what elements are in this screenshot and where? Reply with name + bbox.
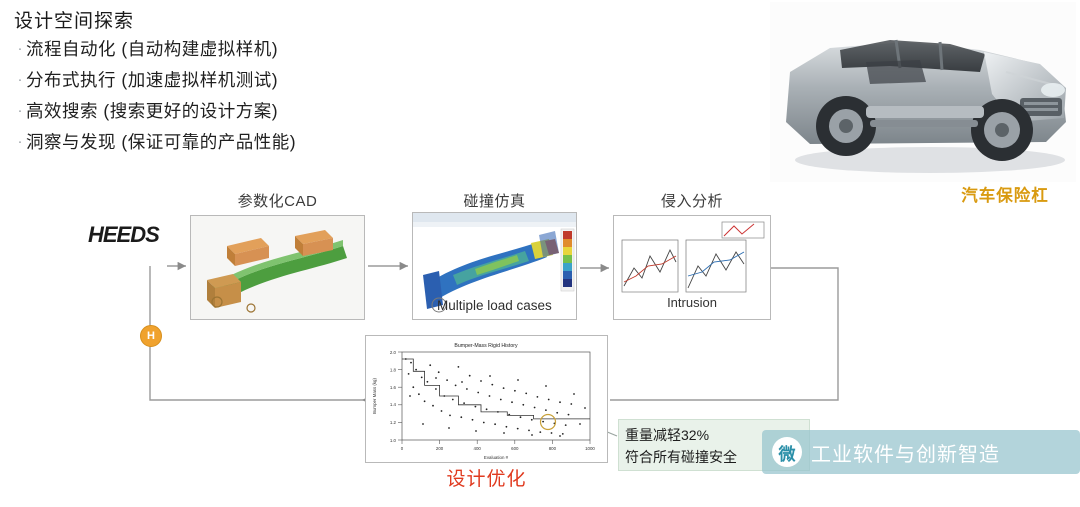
- car-illustration: [770, 2, 1076, 182]
- svg-text:200: 200: [436, 446, 444, 451]
- svg-text:1.2: 1.2: [390, 420, 397, 425]
- svg-text:800: 800: [549, 446, 557, 451]
- bullet-marker-icon: ·: [14, 98, 26, 124]
- svg-text:1.8: 1.8: [390, 368, 397, 373]
- bullet-marker-icon: ·: [14, 67, 26, 93]
- page-title: 设计空间探索: [14, 6, 134, 33]
- stage-caption-crash-simulation: 碰撞仿真: [412, 190, 577, 211]
- intrusion-axis-label: Intrusion: [613, 295, 771, 310]
- svg-text:2.0: 2.0: [390, 350, 397, 355]
- design-optimization-chart: Bumper-Mass Rigid History 1.01.21.4 1.61…: [365, 335, 608, 463]
- bullet-marker-icon: ·: [14, 36, 26, 62]
- watermark-badge: 微 工业软件与创新智造: [762, 430, 1080, 474]
- list-item: · 分布式执行 (加速虚拟样机测试): [14, 67, 296, 93]
- bullet-marker-icon: ·: [14, 129, 26, 155]
- crash-overlay-label: Multiple load cases: [437, 298, 552, 313]
- heeds-node-badge: H: [140, 325, 162, 347]
- bullet-text: 洞察与发现 (保证可靠的产品性能): [26, 129, 296, 155]
- bullet-text: 分布式执行 (加速虚拟样机测试): [26, 67, 278, 93]
- list-item: · 洞察与发现 (保证可靠的产品性能): [14, 129, 296, 155]
- svg-text:1.6: 1.6: [390, 385, 397, 390]
- photo-caption: 汽车保险杠: [930, 182, 1080, 206]
- svg-text:600: 600: [511, 446, 519, 451]
- stage-caption-intrusion-analysis: 侵入分析: [613, 190, 771, 211]
- bumper-mass-history-plot: Bumper-Mass Rigid History 1.01.21.4 1.61…: [366, 336, 607, 462]
- bullet-text: 高效搜索 (搜索更好的设计方案): [26, 98, 278, 124]
- bullet-list: · 流程自动化 (自动构建虚拟样机) · 分布式执行 (加速虚拟样机测试) · …: [14, 36, 296, 160]
- svg-text:1.0: 1.0: [390, 438, 397, 443]
- chart-ylabel: Bumper Mass (kg): [372, 378, 377, 414]
- stage-caption-parametric-cad: 参数化CAD: [190, 190, 365, 211]
- list-item: · 流程自动化 (自动构建虚拟样机): [14, 36, 296, 62]
- heeds-logo: HEEDS: [88, 222, 188, 250]
- cad-model-illustration: [191, 216, 364, 319]
- watermark-text: 工业软件与创新智造: [811, 438, 1000, 467]
- chart-title: Bumper-Mass Rigid History: [454, 343, 518, 349]
- svg-text:1.4: 1.4: [390, 402, 397, 407]
- parametric-cad-panel: [190, 215, 365, 320]
- optimization-caption: 设计优化: [365, 464, 608, 491]
- chart-xlabel: Evaluation #: [484, 455, 509, 460]
- svg-text:1000: 1000: [585, 446, 595, 451]
- list-item: · 高效搜索 (搜索更好的设计方案): [14, 98, 296, 124]
- svg-text:400: 400: [474, 446, 482, 451]
- bullet-text: 流程自动化 (自动构建虚拟样机): [26, 36, 278, 62]
- wechat-logo-icon: 微: [772, 437, 802, 467]
- car-chassis-photo: [770, 2, 1076, 182]
